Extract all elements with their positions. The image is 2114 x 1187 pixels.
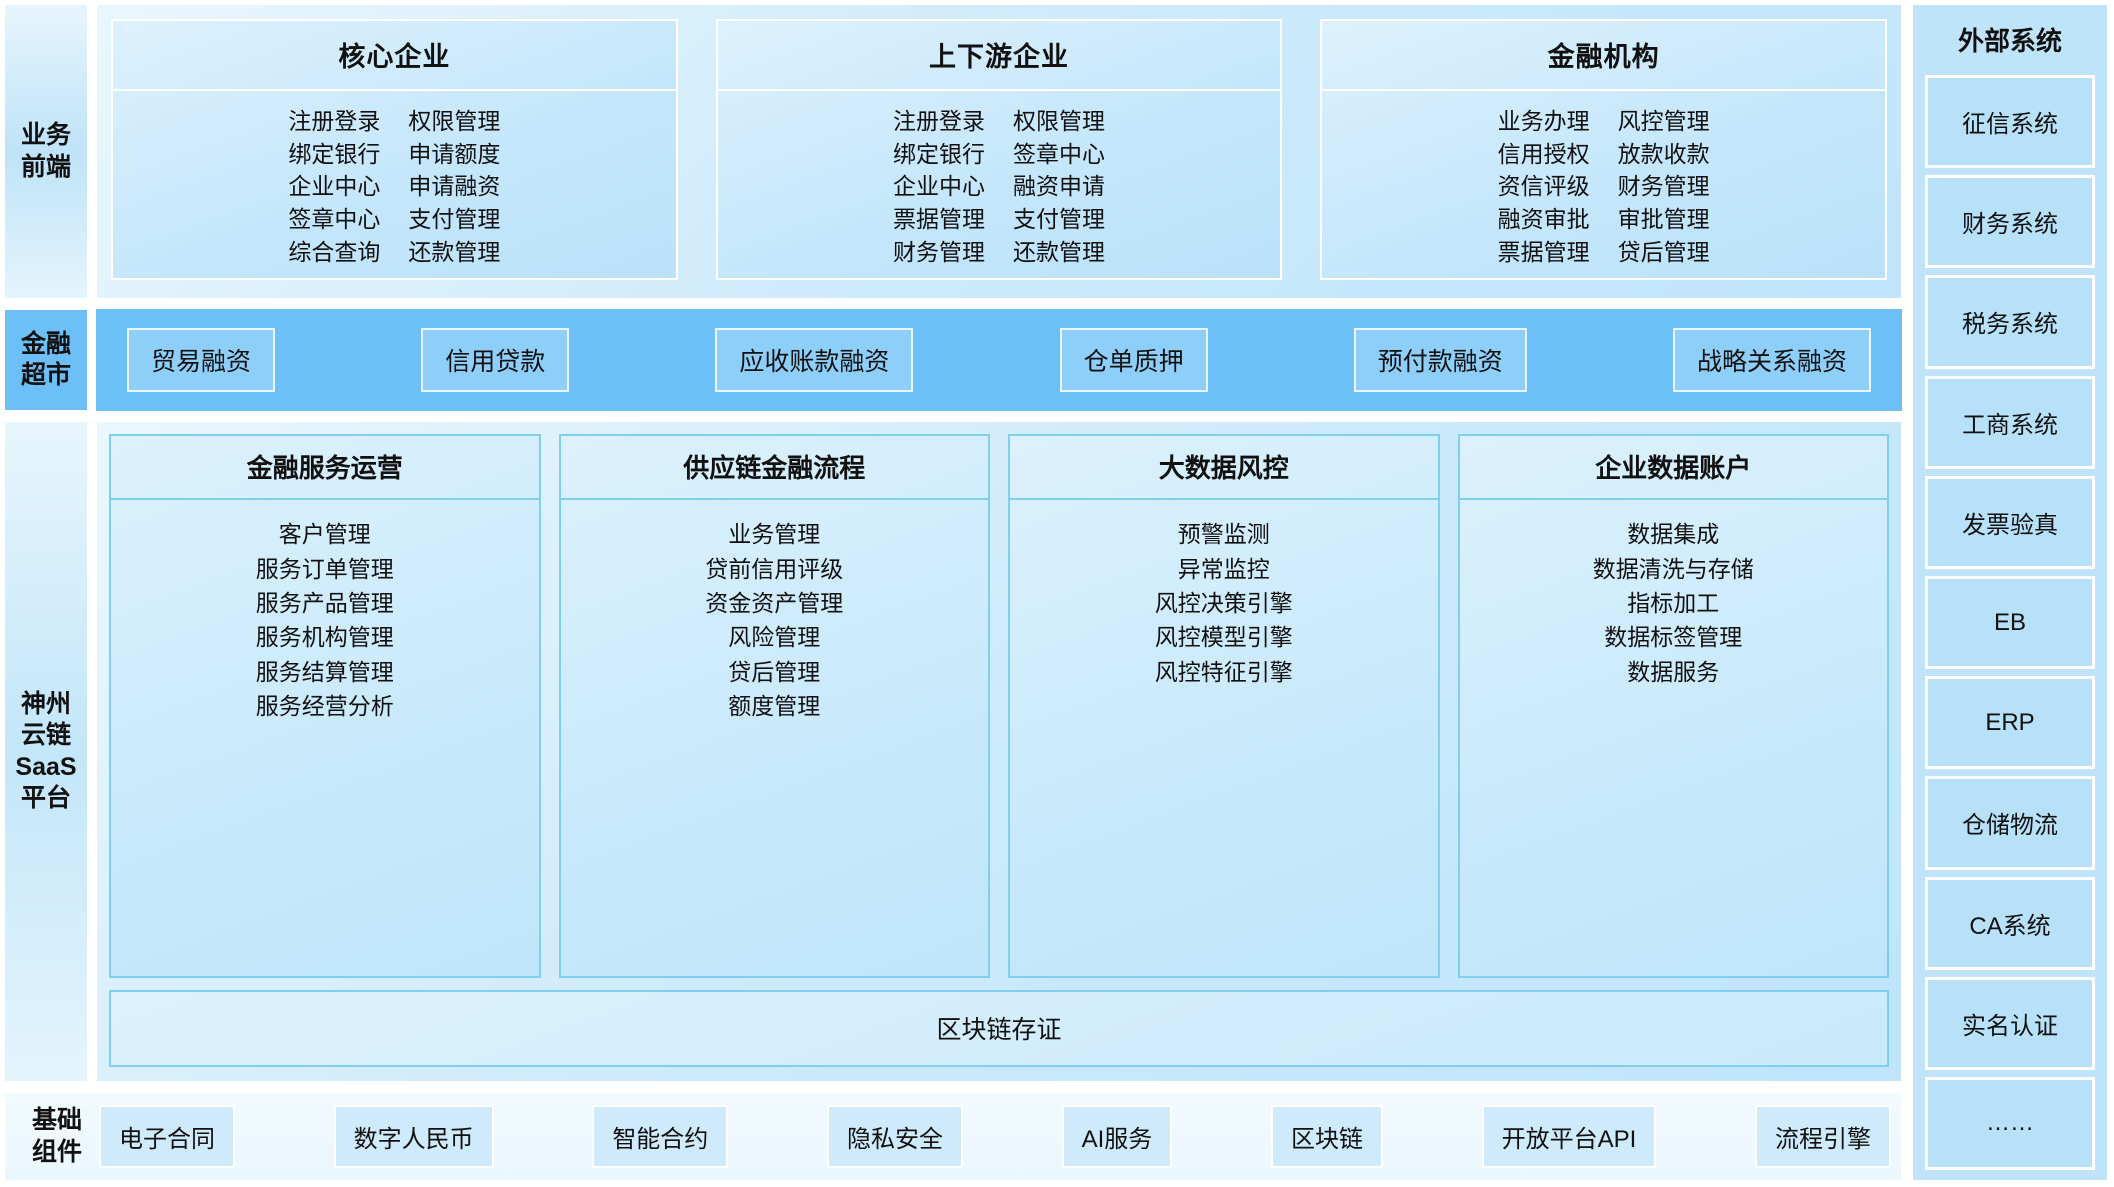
card-column-1: 业务办理 信用授权 资信评级 融资审批 票据管理	[1498, 105, 1590, 268]
band-body-finance-market: 贸易融资 信用贷款 应收账款融资 仓单质押 预付款融资 战略关系融资	[96, 309, 1902, 411]
list-item[interactable]: 数据标签管理	[1604, 621, 1742, 654]
list-item[interactable]: 权限管理	[1013, 105, 1105, 138]
card-title: 金融服务运营	[111, 436, 539, 500]
card-list: 数据集成 数据清洗与存储 指标加工 数据标签管理 数据服务	[1460, 500, 1888, 701]
list-item[interactable]: 融资申请	[1013, 170, 1105, 203]
market-item-credit-loan[interactable]: 信用贷款	[421, 328, 569, 392]
list-item[interactable]: 资金资产管理	[705, 587, 843, 620]
front-end-card-upstream-downstream[interactable]: 上下游企业 注册登录 绑定银行 企业中心 票据管理 财务管理 权限管理	[716, 19, 1283, 280]
market-item-strategic-relationship-finance[interactable]: 战略关系融资	[1673, 328, 1871, 392]
list-item[interactable]: 指标加工	[1627, 587, 1719, 620]
external-systems-panel: 外部系统 征信系统 财务系统 税务系统 工商系统 发票验真 EB ERP 仓储物…	[1912, 4, 2108, 1181]
card-column-1: 注册登录 绑定银行 企业中心 签章中心 综合查询	[288, 105, 380, 268]
list-item[interactable]: 申请额度	[408, 138, 500, 171]
list-item[interactable]: 预警监测	[1178, 518, 1270, 551]
card-column-2: 权限管理 申请额度 申请融资 支付管理 还款管理	[408, 105, 500, 268]
front-end-cards: 核心企业 注册登录 绑定银行 企业中心 签章中心 综合查询 权限管理	[111, 19, 1887, 280]
band-label-saas-platform: 神州 云链 SaaS 平台	[4, 421, 88, 1082]
band-label-finance-market: 金融 超市	[4, 309, 88, 411]
band-finance-market: 金融 超市 贸易融资 信用贷款 应收账款融资 仓单质押 预付款融资 战略关系融资	[4, 309, 1902, 411]
list-item[interactable]: 支付管理	[1013, 203, 1105, 236]
list-item[interactable]: 服务产品管理	[256, 587, 394, 620]
list-item[interactable]: 申请融资	[408, 170, 500, 203]
main-column: 业务 前端 核心企业 注册登录 绑定银行 企业中心 签章中心 综合查询	[4, 4, 1902, 1181]
list-item[interactable]: 签章中心	[288, 203, 380, 236]
list-item[interactable]: 放款收款	[1618, 138, 1710, 171]
card-list: 预警监测 异常监控 风控决策引擎 风控模型引擎 风控特征引擎	[1010, 500, 1438, 701]
card-title: 企业数据账户	[1460, 436, 1888, 500]
list-item[interactable]: 服务经营分析	[256, 690, 394, 723]
card-title: 金融机构	[1322, 21, 1885, 91]
blockchain-evidence-bar[interactable]: 区块链存证	[109, 990, 1889, 1067]
card-title: 上下游企业	[718, 21, 1281, 91]
list-item[interactable]: 绑定银行	[288, 138, 380, 171]
external-systems-title: 外部系统	[1925, 13, 2095, 68]
list-item[interactable]: 业务办理	[1498, 105, 1590, 138]
base-component-open-platform-api[interactable]: 开放平台API	[1482, 1105, 1657, 1168]
card-columns: 注册登录 绑定银行 企业中心 票据管理 财务管理 权限管理 签章中心 融资申请 …	[718, 91, 1281, 278]
external-system-eb[interactable]: EB	[1925, 576, 2095, 669]
external-system-invoice-verification[interactable]: 发票验真	[1925, 476, 2095, 569]
list-item[interactable]: 票据管理	[1498, 236, 1590, 269]
base-component-digital-rmb[interactable]: 数字人民币	[334, 1105, 494, 1168]
band-base-components: 基础 组件 电子合同 数字人民币 智能合约 隐私安全 AI服务 区块链 开放平台…	[4, 1092, 1902, 1181]
card-column-1: 注册登录 绑定银行 企业中心 票据管理 财务管理	[893, 105, 985, 268]
list-item[interactable]: 贷后管理	[1618, 236, 1710, 269]
list-item[interactable]: 综合查询	[288, 236, 380, 269]
list-item[interactable]: 企业中心	[288, 170, 380, 203]
band-front-end: 业务 前端 核心企业 注册登录 绑定银行 企业中心 签章中心 综合查询	[4, 4, 1902, 299]
list-item[interactable]: 风控特征引擎	[1155, 656, 1293, 689]
external-system-warehouse-logistics[interactable]: 仓储物流	[1925, 776, 2095, 869]
market-item-warehouse-receipt-pledge[interactable]: 仓单质押	[1060, 328, 1208, 392]
band-body-base-components: 电子合同 数字人民币 智能合约 隐私安全 AI服务 区块链 开放平台API 流程…	[99, 1105, 1891, 1168]
market-item-trade-finance[interactable]: 贸易融资	[127, 328, 275, 392]
front-end-card-financial-institution[interactable]: 金融机构 业务办理 信用授权 资信评级 融资审批 票据管理 风控管理	[1320, 19, 1887, 280]
list-item[interactable]: 数据清洗与存储	[1593, 553, 1754, 586]
saas-card-financial-service-operations[interactable]: 金融服务运营 客户管理 服务订单管理 服务产品管理 服务机构管理 服务结算管理 …	[109, 434, 541, 978]
list-item[interactable]: 审批管理	[1618, 203, 1710, 236]
base-component-ai-service[interactable]: AI服务	[1062, 1105, 1173, 1168]
market-item-prepayment-finance[interactable]: 预付款融资	[1354, 328, 1527, 392]
list-item[interactable]: 还款管理	[1013, 236, 1105, 269]
list-item[interactable]: 信用授权	[1498, 138, 1590, 171]
external-system-more[interactable]: ……	[1925, 1077, 2095, 1170]
card-columns: 业务办理 信用授权 资信评级 融资审批 票据管理 风控管理 放款收款 财务管理 …	[1322, 91, 1885, 278]
list-item[interactable]: 企业中心	[893, 170, 985, 203]
list-item[interactable]: 贷后管理	[728, 656, 820, 689]
list-item[interactable]: 票据管理	[893, 203, 985, 236]
list-item[interactable]: 数据服务	[1627, 656, 1719, 689]
external-system-finance[interactable]: 财务系统	[1925, 175, 2095, 268]
list-item[interactable]: 绑定银行	[893, 138, 985, 171]
list-item[interactable]: 注册登录	[893, 105, 985, 138]
base-component-blockchain[interactable]: 区块链	[1271, 1105, 1383, 1168]
list-item[interactable]: 业务管理	[728, 518, 820, 551]
external-system-erp[interactable]: ERP	[1925, 676, 2095, 769]
list-item[interactable]: 贷前信用评级	[705, 553, 843, 586]
list-item[interactable]: 额度管理	[728, 690, 820, 723]
saas-card-supply-chain-finance-process[interactable]: 供应链金融流程 业务管理 贷前信用评级 资金资产管理 风险管理 贷后管理 额度管…	[559, 434, 991, 978]
band-saas-platform: 神州 云链 SaaS 平台 金融服务运营 客户管理 服务订单管理 服务产品管理 …	[4, 421, 1902, 1082]
list-item[interactable]: 服务机构管理	[256, 621, 394, 654]
external-system-business-registration[interactable]: 工商系统	[1925, 376, 2095, 469]
list-item[interactable]: 服务订单管理	[256, 553, 394, 586]
card-title: 供应链金融流程	[561, 436, 989, 500]
front-end-card-core-enterprise[interactable]: 核心企业 注册登录 绑定银行 企业中心 签章中心 综合查询 权限管理	[111, 19, 678, 280]
card-list: 客户管理 服务订单管理 服务产品管理 服务机构管理 服务结算管理 服务经营分析	[111, 500, 539, 735]
list-item[interactable]: 风控模型引擎	[1155, 621, 1293, 654]
market-item-receivables-finance[interactable]: 应收账款融资	[715, 328, 913, 392]
list-item[interactable]: 支付管理	[408, 203, 500, 236]
list-item[interactable]: 风控决策引擎	[1155, 587, 1293, 620]
band-body-front-end: 核心企业 注册登录 绑定银行 企业中心 签章中心 综合查询 权限管理	[96, 4, 1902, 299]
list-item[interactable]: 风险管理	[728, 621, 820, 654]
external-system-ca[interactable]: CA系统	[1925, 877, 2095, 970]
list-item[interactable]: 异常监控	[1178, 553, 1270, 586]
base-component-process-engine[interactable]: 流程引擎	[1755, 1105, 1891, 1168]
band-body-saas-platform: 金融服务运营 客户管理 服务订单管理 服务产品管理 服务机构管理 服务结算管理 …	[96, 421, 1902, 1082]
base-component-electronic-contract[interactable]: 电子合同	[99, 1105, 235, 1168]
band-label-front-end: 业务 前端	[4, 4, 88, 299]
list-item[interactable]: 服务结算管理	[256, 656, 394, 689]
base-component-smart-contract[interactable]: 智能合约	[592, 1105, 728, 1168]
band-label-base-components: 基础 组件	[15, 1105, 99, 1168]
list-item[interactable]: 客户管理	[279, 518, 371, 551]
list-item[interactable]: 签章中心	[1013, 138, 1105, 171]
list-item[interactable]: 数据集成	[1627, 518, 1719, 551]
architecture-diagram: 业务 前端 核心企业 注册登录 绑定银行 企业中心 签章中心 综合查询	[0, 0, 2114, 1187]
card-columns: 注册登录 绑定银行 企业中心 签章中心 综合查询 权限管理 申请额度 申请融资 …	[113, 91, 676, 278]
list-item[interactable]: 资信评级	[1498, 170, 1590, 203]
card-column-2: 权限管理 签章中心 融资申请 支付管理 还款管理	[1013, 105, 1105, 268]
saas-card-enterprise-data-account[interactable]: 企业数据账户 数据集成 数据清洗与存储 指标加工 数据标签管理 数据服务	[1458, 434, 1890, 978]
saas-cards: 金融服务运营 客户管理 服务订单管理 服务产品管理 服务机构管理 服务结算管理 …	[109, 434, 1889, 978]
list-item[interactable]: 融资审批	[1498, 203, 1590, 236]
card-column-2: 风控管理 放款收款 财务管理 审批管理 贷后管理	[1618, 105, 1710, 268]
list-item[interactable]: 还款管理	[408, 236, 500, 269]
card-title: 核心企业	[113, 21, 676, 91]
external-system-real-name-auth[interactable]: 实名认证	[1925, 977, 2095, 1070]
external-system-tax[interactable]: 税务系统	[1925, 275, 2095, 368]
list-item[interactable]: 注册登录	[288, 105, 380, 138]
list-item[interactable]: 权限管理	[408, 105, 500, 138]
base-component-privacy-security[interactable]: 隐私安全	[827, 1105, 963, 1168]
list-item[interactable]: 财务管理	[893, 236, 985, 269]
external-system-credit-reporting[interactable]: 征信系统	[1925, 75, 2095, 168]
card-title: 大数据风控	[1010, 436, 1438, 500]
card-list: 业务管理 贷前信用评级 资金资产管理 风险管理 贷后管理 额度管理	[561, 500, 989, 735]
list-item[interactable]: 财务管理	[1618, 170, 1710, 203]
list-item[interactable]: 风控管理	[1618, 105, 1710, 138]
saas-card-big-data-risk-control[interactable]: 大数据风控 预警监测 异常监控 风控决策引擎 风控模型引擎 风控特征引擎	[1008, 434, 1440, 978]
